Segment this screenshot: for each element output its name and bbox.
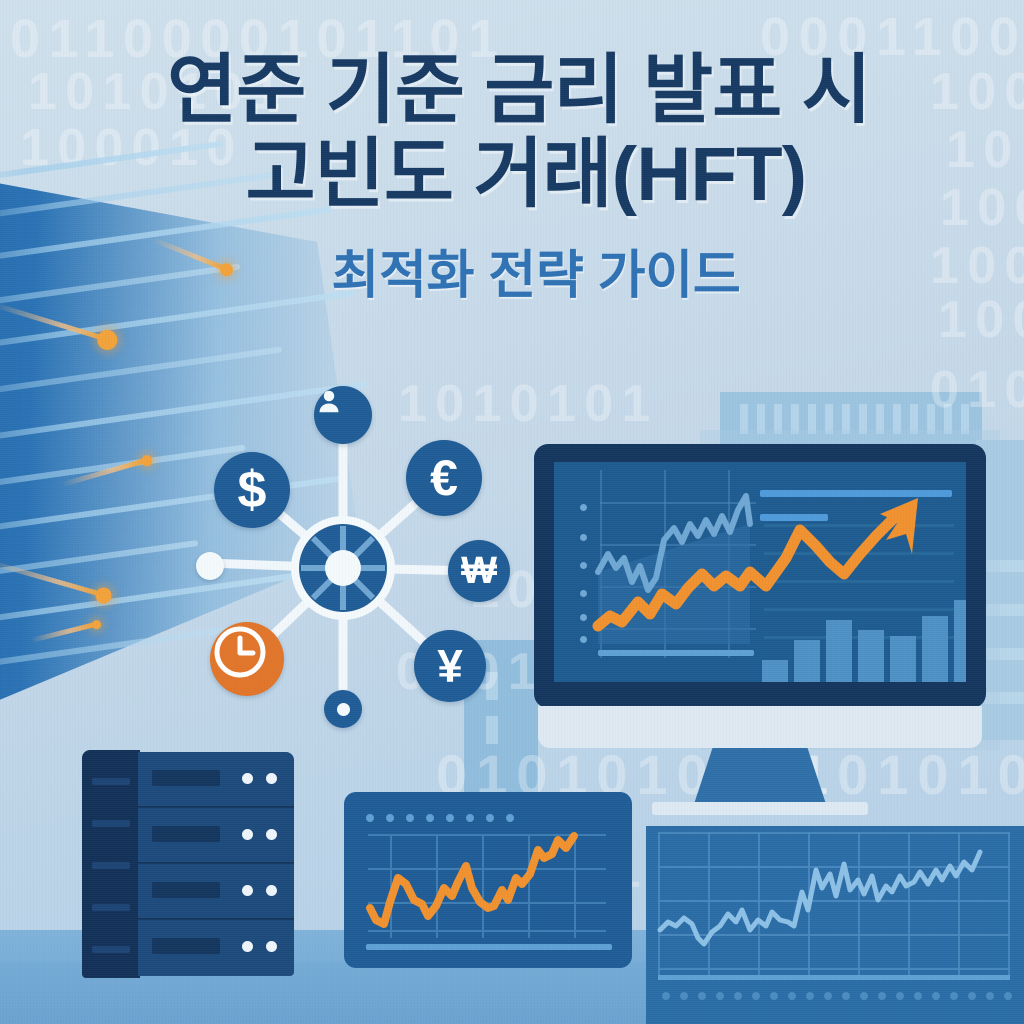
person-icon	[314, 386, 344, 416]
rack-unit[interactable]	[138, 752, 294, 808]
monitor-base	[652, 802, 868, 815]
poster-canvas: 0110000101101000110011011010101100110001…	[0, 0, 1024, 1024]
rack-led	[266, 773, 277, 784]
rack-led	[242, 829, 253, 840]
rack-led	[266, 829, 277, 840]
rack-slot	[152, 770, 220, 786]
node-user-icon[interactable]	[314, 386, 372, 444]
page-title-line-1: 연준 기준 금리 발표 시	[14, 52, 1024, 130]
rack-slot	[152, 882, 220, 898]
rack-led	[266, 941, 277, 952]
monitor-stand	[694, 748, 826, 804]
monitor-screen[interactable]	[554, 462, 966, 682]
trading-monitor	[534, 444, 986, 708]
server-rack[interactable]	[82, 750, 294, 978]
tick-chart-panel[interactable]	[646, 826, 1024, 1024]
panel-center-series	[344, 792, 632, 968]
page-subtitle: 최적화 전략 가이드	[48, 233, 1024, 308]
latency-chart-panel[interactable]	[344, 792, 632, 968]
monitor-baseline	[598, 650, 754, 656]
node-endpoint-bottom[interactable]	[324, 690, 362, 728]
panel-center-baseline	[366, 944, 612, 950]
page-title-line-2: 고빈도 거래(HFT)	[28, 136, 1024, 214]
monitor-chin	[538, 706, 982, 748]
monitor-series-hft	[554, 462, 966, 664]
rack-side-panel	[82, 750, 140, 978]
rack-slot	[152, 826, 220, 842]
panel-right-baseline	[658, 975, 1010, 980]
endpoint-bottom-dot	[337, 703, 350, 716]
clock-icon	[210, 622, 270, 682]
rack-unit[interactable]	[138, 864, 294, 920]
currency-network-hub: $ € ₩ ¥	[196, 372, 526, 744]
hub-core-dot	[325, 550, 361, 586]
rack-unit[interactable]	[138, 920, 294, 974]
rack-slot	[152, 938, 220, 954]
node-currency-usd[interactable]: $	[214, 452, 290, 528]
rack-unit[interactable]	[138, 808, 294, 864]
heading-block: 연준 기준 금리 발표 시 고빈도 거래(HFT) 최적화 전략 가이드	[0, 52, 1024, 308]
node-clock-icon[interactable]	[210, 622, 284, 696]
rack-units	[138, 752, 294, 976]
node-endpoint-left[interactable]	[196, 552, 224, 580]
node-currency-eur[interactable]: €	[406, 440, 482, 516]
rack-led	[242, 773, 253, 784]
rack-led	[242, 941, 253, 952]
node-currency-krw[interactable]: ₩	[448, 540, 510, 602]
node-currency-jpy[interactable]: ¥	[414, 630, 486, 702]
rack-led	[266, 885, 277, 896]
rack-led	[242, 885, 253, 896]
